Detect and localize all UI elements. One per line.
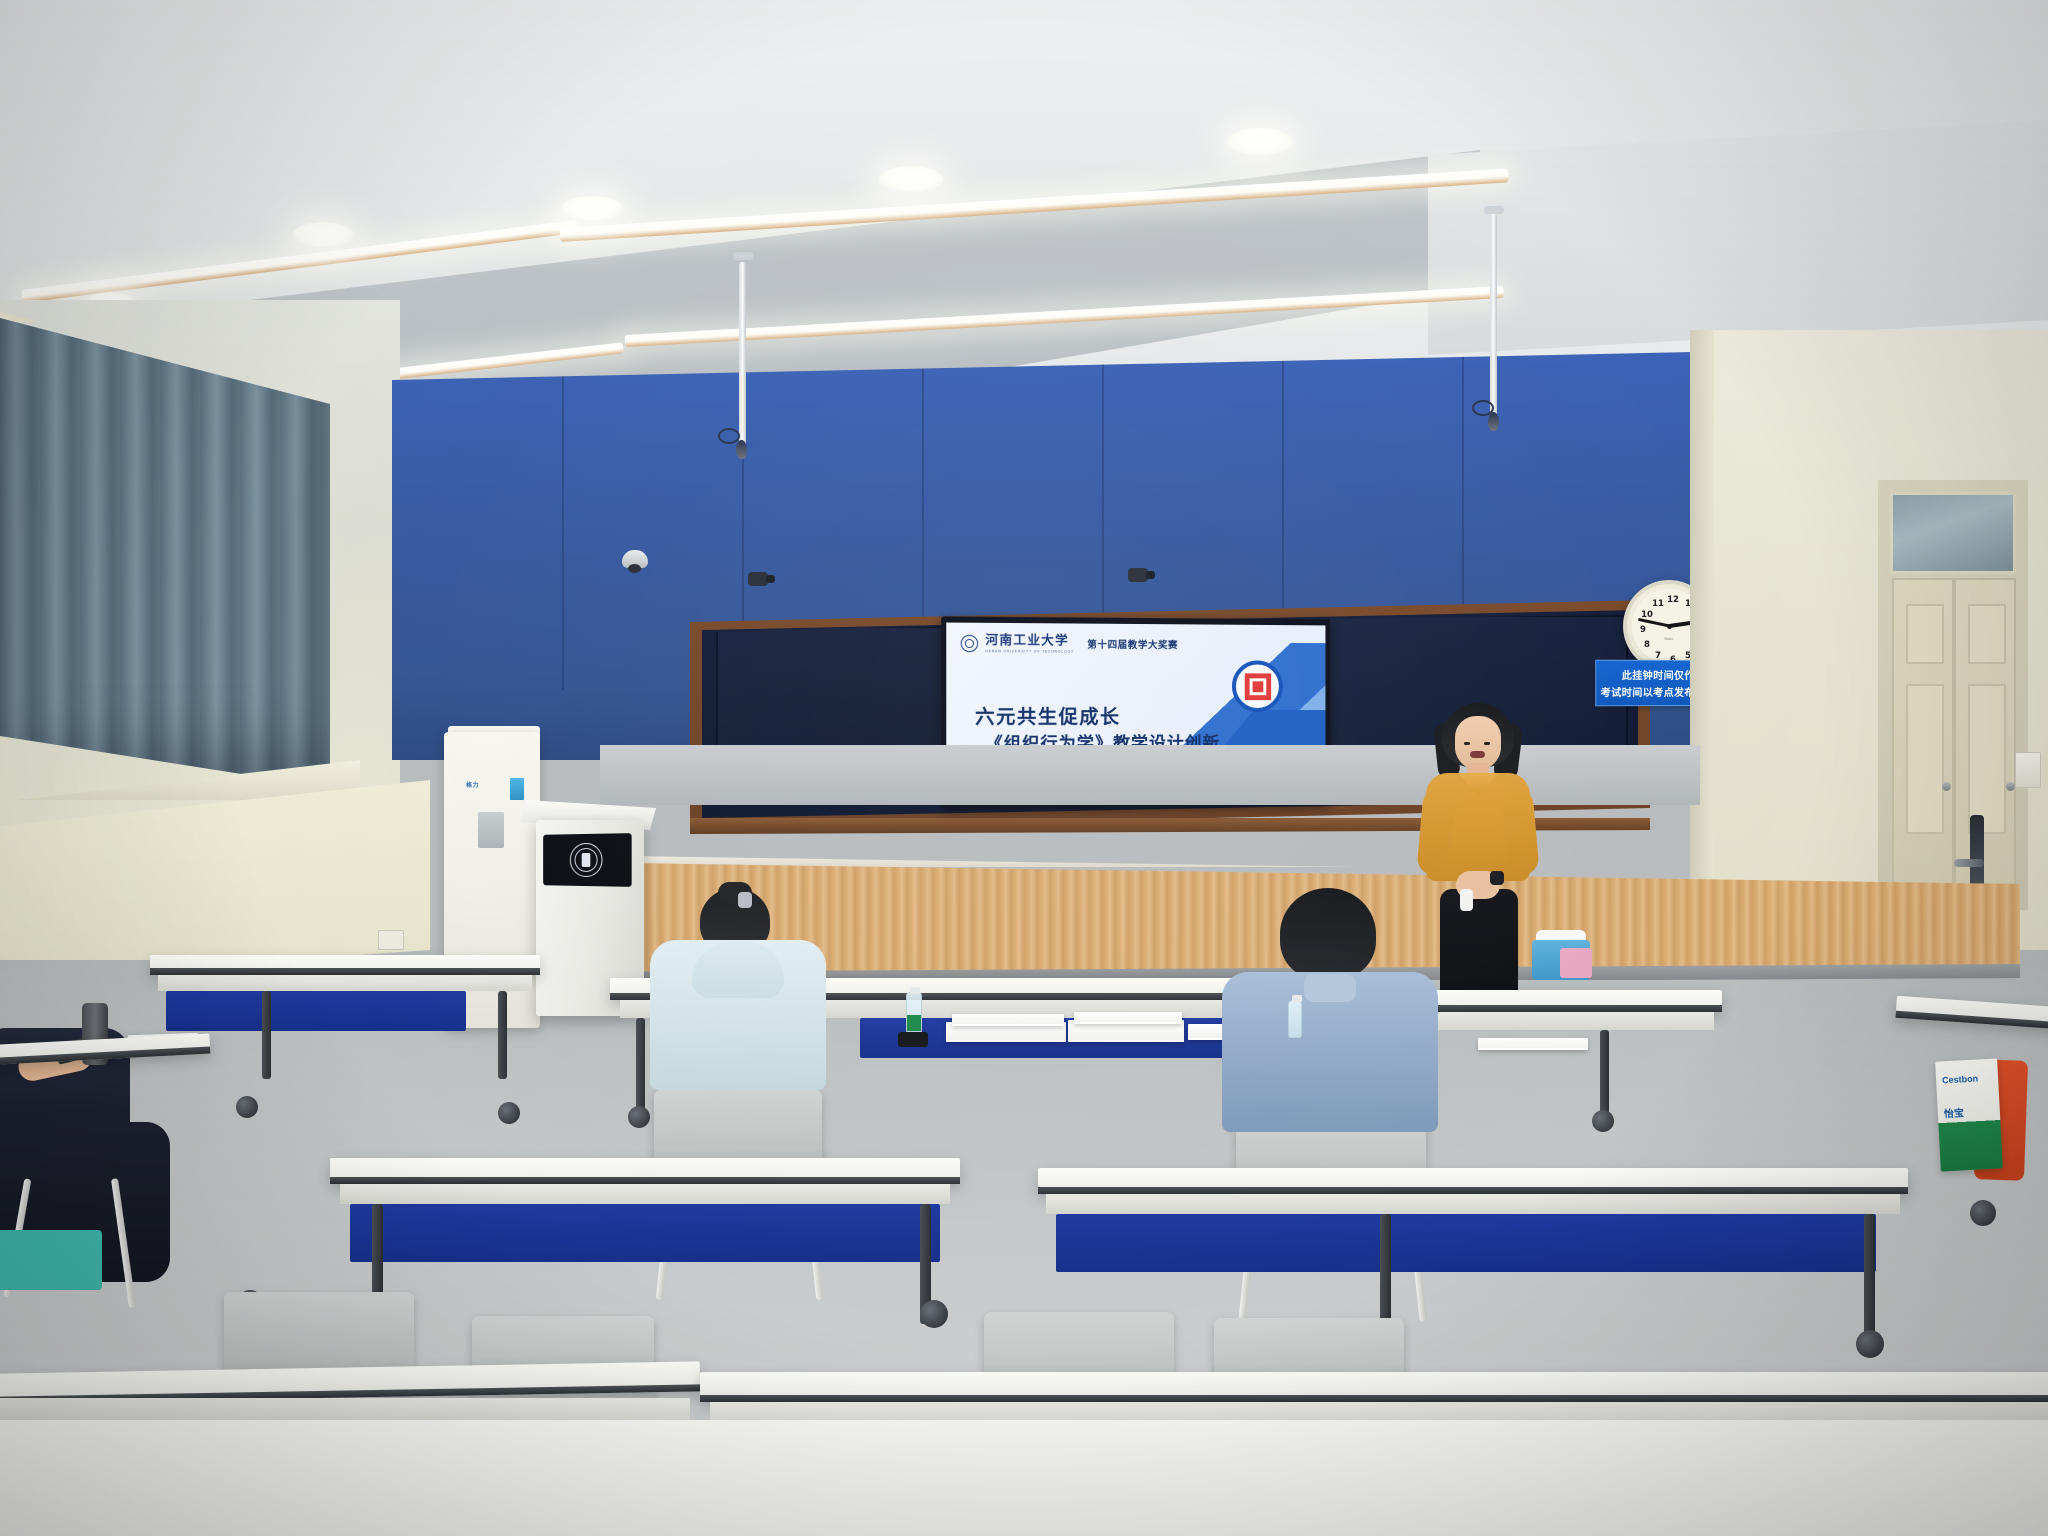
paper-sheet xyxy=(1478,1038,1588,1050)
university-name-cn: 河南工业大学 xyxy=(985,634,1074,647)
water-carton-box: Cestbon 怡宝 xyxy=(1935,1058,2003,1171)
slide-title-line1: 六元共生促成长 xyxy=(975,702,1120,729)
desk-apron xyxy=(1046,1194,1900,1214)
carton-brand-en: Cestbon xyxy=(1942,1073,1978,1085)
microphone-cable xyxy=(718,428,740,444)
desk-apron xyxy=(158,975,532,991)
right-wall-corner xyxy=(1690,330,1714,950)
door-knob-right-icon xyxy=(2006,782,2015,791)
presenter-arm-right xyxy=(1500,788,1539,876)
clock-center-pin xyxy=(1667,624,1672,629)
presenter-face xyxy=(1455,716,1501,770)
clock-numeral: 8 xyxy=(1644,640,1650,650)
desk-foreground-surface xyxy=(0,1420,2048,1536)
hair-clip-icon xyxy=(738,892,752,908)
ceiling-downlight xyxy=(292,222,354,248)
desk-caster xyxy=(236,1096,258,1118)
desk-leg xyxy=(262,991,271,1079)
wall-camera-icon xyxy=(748,572,768,586)
microphone-ceiling-mount xyxy=(733,252,753,260)
desk-caster xyxy=(498,1102,520,1124)
slide-emblem-icon xyxy=(1232,660,1283,712)
clock-numeral: 9 xyxy=(1640,625,1646,635)
microphone-ceiling-mount xyxy=(1484,206,1504,214)
clock-numeral: 11 xyxy=(1652,599,1664,609)
desk-caster xyxy=(1856,1330,1884,1358)
hoodie-hood xyxy=(692,942,784,998)
clock-brand-label: BaiLi xyxy=(1665,636,1674,641)
person-head-back xyxy=(1280,888,1376,980)
desk-row3-right xyxy=(1038,1168,1908,1194)
water-bottle xyxy=(1288,1000,1302,1038)
desk-caster xyxy=(1592,1110,1614,1132)
university-seal-icon xyxy=(570,843,603,877)
seated-person-center xyxy=(1218,888,1438,1128)
paper-stack xyxy=(1074,1012,1182,1024)
ceiling-downlight xyxy=(878,166,944,193)
door-transom-window xyxy=(1890,492,2016,574)
slide-header: 河南工业大学 HENAN UNIVERSITY OF TECHNOLOGY 第十… xyxy=(961,634,1178,654)
wall-outlet xyxy=(378,930,404,950)
shirt-collar xyxy=(1304,974,1356,1002)
smartphone-on-desk xyxy=(898,1032,928,1047)
carton-brand-cn: 怡宝 xyxy=(1943,1104,1964,1120)
teal-object xyxy=(0,1230,102,1290)
seated-person-left xyxy=(640,888,840,1118)
university-seal-icon xyxy=(961,635,978,652)
energy-label-sticker xyxy=(510,778,524,800)
wall-camera-icon xyxy=(1128,568,1148,582)
tissue-pack-pink xyxy=(1560,948,1592,978)
desk-modesty-panel xyxy=(350,1204,940,1262)
desk-apron xyxy=(0,1398,690,1422)
desk-caster xyxy=(920,1300,948,1328)
air-conditioner-brand-label: 格力 xyxy=(466,780,479,789)
presenter-wristwatch xyxy=(1490,871,1504,885)
microphone-head xyxy=(736,440,747,459)
desk-foreground-bottom-right xyxy=(700,1372,2048,1402)
podium-emblem-plate xyxy=(543,833,632,887)
light-switch[interactable] xyxy=(2015,752,2041,788)
clock-numeral: 12 xyxy=(1667,595,1679,605)
university-name-en: HENAN UNIVERSITY OF TECHNOLOGY xyxy=(985,649,1074,654)
presenter-mouth xyxy=(1470,751,1485,758)
desk-apron xyxy=(340,1184,950,1204)
desk-leg xyxy=(1864,1214,1875,1342)
door-handle[interactable] xyxy=(1970,815,1984,887)
contest-name: 第十四届教学大奖赛 xyxy=(1087,637,1178,652)
desk-modesty-panel xyxy=(166,991,466,1031)
ceiling-microphone-pole xyxy=(739,262,746,448)
classroom-photo: 河南工业大学 HENAN UNIVERSITY OF TECHNOLOGY 第十… xyxy=(0,0,2048,1536)
desk-row1-left xyxy=(150,955,540,975)
ceiling-dome-camera-icon xyxy=(622,550,648,568)
desk-leg xyxy=(498,991,507,1079)
desk-caster xyxy=(1970,1200,1996,1226)
microphone-head xyxy=(1488,412,1499,431)
door-knob-left-icon xyxy=(1942,782,1951,791)
desk-row3-left xyxy=(330,1158,960,1184)
air-conditioner-display xyxy=(478,812,504,848)
ceiling-downlight xyxy=(1226,128,1294,156)
ceiling-downlight xyxy=(560,196,624,222)
ceiling-microphone-pole xyxy=(1490,214,1497,420)
desk-leg xyxy=(1600,1030,1609,1114)
door-leaf-left[interactable] xyxy=(1892,578,1954,908)
desk-modesty-panel xyxy=(1056,1214,1876,1272)
presenter-trousers xyxy=(1440,889,1518,999)
presentation-clicker xyxy=(1460,889,1473,911)
paper-stack xyxy=(952,1014,1064,1026)
